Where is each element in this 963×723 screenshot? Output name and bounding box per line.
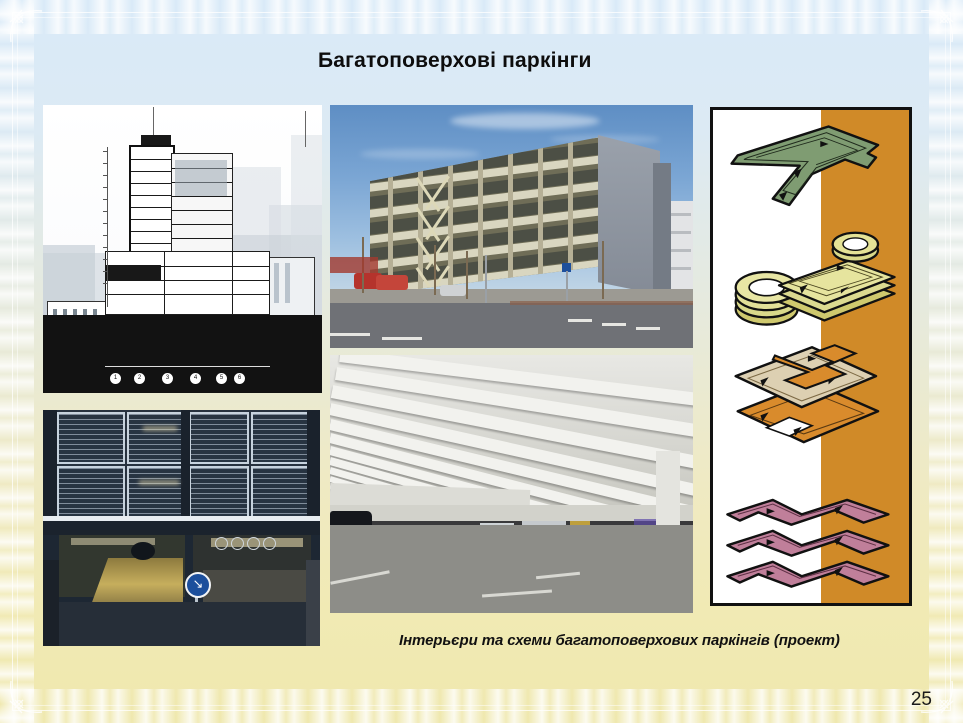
- section-window: [274, 263, 279, 303]
- section-grid-label: 5: [215, 372, 228, 385]
- road-marking: [568, 319, 592, 322]
- bay-marker-icon: [231, 537, 244, 550]
- facade-mesh-panel: [189, 412, 249, 464]
- garage-end-wall: [598, 135, 660, 295]
- road-marking: [602, 323, 626, 326]
- facade-mesh-panel: [57, 412, 125, 464]
- interior-light: [139, 480, 179, 485]
- section-grid-label: 1: [109, 372, 122, 385]
- parking-ramp-scheme-diagrams: [710, 107, 912, 606]
- scheme-yellow: [736, 233, 895, 325]
- frame-band-top: [0, 0, 963, 34]
- corner-ornament-icon: [8, 8, 54, 54]
- side-wall: [43, 560, 59, 646]
- facade-mesh-panel: [57, 466, 125, 518]
- section-grid-label: 6: [233, 372, 246, 385]
- parking-garage-interior-photo: [330, 355, 693, 613]
- awning: [330, 257, 378, 273]
- section-grid-label: 2: [133, 372, 146, 385]
- facade-mullion: [307, 410, 320, 518]
- facade-mesh-panel: [251, 412, 311, 464]
- corner-ornament-icon: [8, 669, 54, 715]
- page-number: 25: [911, 689, 932, 711]
- parking-garage-entrance-photo: ↘: [43, 410, 320, 646]
- cloud: [360, 149, 480, 159]
- section-mast: [305, 111, 306, 147]
- road-marking: [382, 337, 422, 340]
- parking-garage-exterior-photo: [330, 105, 693, 348]
- scheme-green: [732, 127, 878, 205]
- ramp-scheme-svg: [713, 110, 909, 606]
- facade-mesh-panel: [127, 466, 187, 518]
- cloud: [450, 113, 600, 129]
- side-wall: [306, 560, 320, 646]
- architectural-section-drawing: 1 2 3 4 5 6: [43, 105, 322, 393]
- corner-ornament-icon: [909, 8, 955, 54]
- scheme-pink: [727, 500, 888, 587]
- scheme-tan-orange: [736, 345, 878, 442]
- section-window: [285, 263, 290, 303]
- facade-mesh-panel: [189, 466, 249, 518]
- parked-car: [376, 275, 408, 290]
- road: [330, 303, 693, 348]
- facade-mesh-panel: [251, 466, 311, 518]
- bay-fan-icon: [131, 542, 155, 560]
- section-glazing: [175, 160, 227, 196]
- tree: [602, 241, 604, 299]
- facade-mullion: [43, 410, 57, 518]
- frame-band-right: [929, 0, 963, 723]
- road-marking: [330, 333, 370, 336]
- red-cycle-lane: [510, 301, 693, 305]
- section-ground-fill: [43, 315, 322, 393]
- tree: [434, 245, 436, 295]
- bay-marker-icon: [215, 537, 228, 550]
- facade-mesh-panel: [127, 412, 187, 464]
- stair-tower: [653, 163, 671, 293]
- section-podium: [105, 251, 270, 315]
- frame-band-bottom: [0, 689, 963, 723]
- sign-post: [485, 255, 487, 303]
- slab-shadow: [43, 521, 320, 535]
- interior-light: [143, 426, 177, 431]
- bay-marker-icon: [263, 537, 276, 550]
- direction-arrow-icon: ↘: [185, 572, 211, 598]
- figure-caption: Інтерьєри та схеми багатоповерхових парк…: [399, 632, 840, 649]
- parked-car: [440, 285, 466, 296]
- section-service-floor: [105, 265, 161, 281]
- bay-marker-icon: [247, 537, 260, 550]
- section-grid-label: 4: [189, 372, 202, 385]
- facade-mullion: [181, 410, 190, 518]
- interior-floor: [330, 525, 693, 613]
- slide-title: Багатоповерхові паркінги: [318, 49, 592, 73]
- section-grid-label: 3: [161, 372, 174, 385]
- driveway: [43, 602, 320, 646]
- road-marking: [636, 327, 660, 330]
- tree: [466, 251, 468, 299]
- sign-post: [566, 271, 568, 301]
- frame-band-left: [0, 0, 34, 723]
